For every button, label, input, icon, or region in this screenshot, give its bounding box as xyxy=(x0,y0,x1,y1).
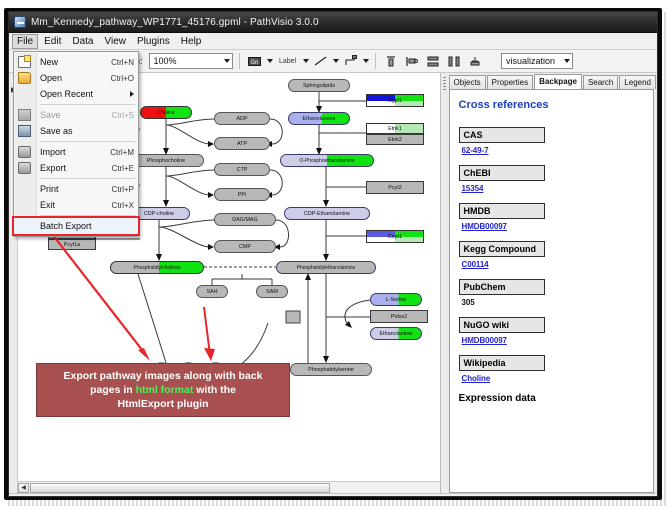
callout-line-2-post: with the xyxy=(193,384,236,396)
node-label-choline: Choline xyxy=(157,110,175,116)
node-label-etnk1: Etnk1 xyxy=(388,126,402,132)
canvas-horizontal-scrollbar[interactable]: ◀ xyxy=(18,481,441,493)
expression-data-title: Expression data xyxy=(459,393,644,404)
node-label-phosphatidylserine: Phosphatidylserine xyxy=(308,367,354,373)
xref-source-nugo: NuGO wiki xyxy=(459,317,545,333)
export-icon xyxy=(18,162,31,174)
callout-line-2-pre: pages in xyxy=(90,384,136,396)
node-ptdss2[interactable]: Ptdss2 xyxy=(370,310,428,323)
node-label-pcyt2: Pcyt2 xyxy=(388,185,401,191)
pathvisio-icon xyxy=(14,16,26,28)
node-dag-mag[interactable]: DAG/MAG xyxy=(214,213,276,226)
xref-row-wikipedia: Wikipedia Choline xyxy=(459,353,644,383)
node-label-pcyt1a: Pcyt1a xyxy=(64,242,80,248)
menu-item-save-as[interactable]: Save as xyxy=(14,123,138,139)
menu-item-exit-accel: Ctrl+X xyxy=(112,201,134,210)
node-cdp-ethanolamine[interactable]: CDP-Ethanolamine xyxy=(284,207,370,220)
node-label-cdp-ethanolamine: CDP-Ethanolamine xyxy=(304,211,350,217)
node-label-dag-mag: DAG/MAG xyxy=(232,217,257,223)
xref-link-cas[interactable]: 62-49-7 xyxy=(462,146,644,155)
annotation-callout: Export pathway images along with back pa… xyxy=(36,363,290,417)
menu-item-new[interactable]: New Ctrl+N xyxy=(14,54,138,70)
annotation-callout-text: Export pathway images along with back pa… xyxy=(64,369,263,411)
xref-row-pubchem: PubChem 305 xyxy=(459,277,644,307)
menu-plugins[interactable]: Plugins xyxy=(132,34,175,49)
node-phosphatidylcholines[interactable]: Phosphatidylcholines xyxy=(110,261,204,274)
tab-objects[interactable]: Objects xyxy=(449,75,486,89)
menu-item-export[interactable]: Export Ctrl+E xyxy=(14,160,138,176)
menu-item-save[interactable]: Save Ctrl+S xyxy=(14,107,138,123)
zoom-combo[interactable]: 100% xyxy=(149,53,233,69)
node-label-ppi: PPi xyxy=(238,192,246,198)
node-phosphatidylserine[interactable]: Phosphatidylserine xyxy=(290,363,372,376)
node-label-sam: SAM xyxy=(266,289,278,295)
xref-link-wikipedia[interactable]: Choline xyxy=(462,374,644,383)
node-label-ethanolamine: Ethanolamine xyxy=(303,116,336,122)
xref-row-kegg: Kegg Compound C00114 xyxy=(459,239,644,269)
node-label-phosphatidylethanolamine: Phosphatidylethanolamine xyxy=(297,265,356,271)
menu-item-import-accel: Ctrl+M xyxy=(110,148,134,157)
node-ppi[interactable]: PPi xyxy=(214,188,270,201)
node-label-sphingolipids: Sphingolipids xyxy=(303,83,335,89)
node-label-cept1: Cept1 xyxy=(388,234,402,240)
save-as-icon xyxy=(18,125,31,137)
xref-source-chebi: ChEBI xyxy=(459,165,545,181)
dropdown-separator-4 xyxy=(40,215,135,216)
stack-tool-icon[interactable] xyxy=(466,52,484,70)
xref-link-nugo[interactable]: HMDB00097 xyxy=(462,336,644,345)
xref-link-chebi[interactable]: 15354 xyxy=(462,184,644,193)
xref-row-cas: CAS 62-49-7 xyxy=(459,125,644,155)
menu-item-batch-export-label: Batch Export xyxy=(40,221,134,231)
node-sphingolipids[interactable]: Sphingolipids xyxy=(288,79,350,92)
interaction-tool-icon[interactable] xyxy=(342,52,360,70)
menu-item-new-accel: Ctrl+N xyxy=(111,58,134,67)
node-label-cmp: CMP xyxy=(239,244,251,250)
label-chevron-icon[interactable] xyxy=(303,59,309,63)
node-cept1[interactable]: Cept1 xyxy=(366,230,424,243)
menu-item-import[interactable]: Import Ctrl+M xyxy=(14,144,138,160)
node-ctp[interactable]: CTP xyxy=(214,163,270,176)
scrollbar-thumb[interactable] xyxy=(30,483,330,493)
pathvisio-window: Mm_Kennedy_pathway_WP1771_45176.gpml - P… xyxy=(8,11,658,497)
dropdown-separator-2 xyxy=(40,141,135,142)
menu-help[interactable]: Help xyxy=(176,34,207,49)
drag-handle-icon[interactable] xyxy=(443,77,446,91)
menu-item-print-label: Print xyxy=(40,184,112,194)
menu-item-save-label: Save xyxy=(40,110,112,120)
label-tool-label: Label xyxy=(279,58,296,65)
distribute-horizontal-tool-icon[interactable] xyxy=(445,52,463,70)
node-atp[interactable]: ATP xyxy=(214,137,270,150)
menu-data[interactable]: Data xyxy=(67,34,98,49)
node-phosphatidylethanolamine[interactable]: Phosphatidylethanolamine xyxy=(276,261,376,274)
window-title: Mm_Kennedy_pathway_WP1771_45176.gpml - P… xyxy=(31,17,319,28)
xref-source-hmdb: HMDB xyxy=(459,203,545,219)
menu-item-open-accel: Ctrl+O xyxy=(111,74,134,83)
menu-view[interactable]: View xyxy=(99,34,131,49)
visualization-value: visualization xyxy=(506,56,555,66)
menu-item-batch-export[interactable]: Batch Export xyxy=(14,218,138,234)
node-label-atp: ATP xyxy=(237,141,247,147)
node-label-sgpl1: Sgpl1 xyxy=(388,98,402,104)
open-folder-icon xyxy=(18,72,31,84)
menu-item-open[interactable]: Open Ctrl+O xyxy=(14,70,138,86)
node-etnk1[interactable]: Etnk1 xyxy=(366,123,424,134)
node-phosphocholine[interactable]: Phosphocholine xyxy=(128,154,204,167)
chevron-down-icon-visualization xyxy=(564,59,570,63)
menu-item-new-label: New xyxy=(40,57,111,67)
node-label-sah: SAH xyxy=(206,289,217,295)
node-adp[interactable]: ADP xyxy=(214,112,270,125)
xref-source-wikipedia: Wikipedia xyxy=(459,355,545,371)
xref-link-hmdb[interactable]: HMDB00097 xyxy=(462,222,644,231)
menu-item-open-label: Open xyxy=(40,73,111,83)
import-icon xyxy=(18,146,31,158)
menu-item-import-label: Import xyxy=(40,147,110,157)
node-label-o-phosphoethanolamine: O-Phosphoethanolamine xyxy=(299,158,354,164)
chevron-down-icon xyxy=(224,59,230,63)
tab-backpage[interactable]: Backpage xyxy=(534,74,582,89)
dropdown-separator-3 xyxy=(40,178,135,179)
menu-item-print[interactable]: Print Ctrl+P xyxy=(14,181,138,197)
interaction-chevron-icon[interactable] xyxy=(363,59,369,63)
cross-references-title: Cross references xyxy=(459,99,644,111)
menu-bar: File Edit Data View Plugins Help xyxy=(9,33,657,50)
zoom-value: 100% xyxy=(154,56,177,66)
xref-row-chebi: ChEBI 15354 xyxy=(459,163,644,193)
menu-item-print-accel: Ctrl+P xyxy=(112,185,134,194)
node-pcyt2[interactable]: Pcyt2 xyxy=(366,181,424,194)
side-panel: Objects Properties Backpage Search Legen… xyxy=(441,73,657,493)
toolbar-separator-2 xyxy=(375,53,376,69)
menu-item-export-label: Export xyxy=(40,163,112,173)
menu-edit[interactable]: Edit xyxy=(39,34,66,49)
node-label-cdp-choline: CDP-choline xyxy=(144,211,174,217)
node-sgpl1[interactable]: Sgpl1 xyxy=(366,94,424,107)
node-l-serine[interactable]: L-Serine xyxy=(370,293,422,306)
menu-item-save-accel: Ctrl+S xyxy=(112,111,134,120)
menu-file[interactable]: File xyxy=(12,34,38,49)
node-label-phosphocholine: Phosphocholine xyxy=(147,158,185,164)
node-sam[interactable]: SAM xyxy=(256,285,288,298)
backpage-content[interactable]: Cross references CAS 62-49-7 ChEBI 15354… xyxy=(449,89,654,493)
gene-product-tool-icon[interactable]: Gn xyxy=(246,52,264,70)
callout-line-1: Export pathway images along with back xyxy=(64,370,263,382)
node-pcyt1a[interactable]: Pcyt1a xyxy=(48,239,96,250)
gene-product-chevron-icon[interactable] xyxy=(267,59,273,63)
scroll-left-arrow-icon[interactable]: ◀ xyxy=(18,483,29,493)
node-cmp[interactable]: CMP xyxy=(214,240,276,253)
node-etnk2[interactable]: Etnk2 xyxy=(366,134,424,145)
callout-highlight: html format xyxy=(136,384,194,396)
xref-row-hmdb: HMDB HMDB00097 xyxy=(459,201,644,231)
node-label-phosphatidylcholines: Phosphatidylcholines xyxy=(134,265,181,271)
file-menu-dropdown[interactable]: New Ctrl+N Open Ctrl+O Open Recent Save … xyxy=(13,51,139,237)
node-label-adp: ADP xyxy=(236,116,247,122)
menu-item-export-accel: Ctrl+E xyxy=(112,164,134,173)
svg-text:Gn: Gn xyxy=(251,60,259,66)
title-bar: Mm_Kennedy_pathway_WP1771_45176.gpml - P… xyxy=(9,12,657,33)
submenu-arrow-icon xyxy=(130,91,134,97)
toolbar-separator xyxy=(239,53,240,69)
node-label-l-serine: L-Serine xyxy=(386,297,406,303)
dropdown-separator-1 xyxy=(40,104,135,105)
menu-item-exit-label: Exit xyxy=(40,200,112,210)
xref-value-pubchem: 305 xyxy=(462,298,644,307)
node-sah[interactable]: SAH xyxy=(196,285,228,298)
screenshot-root: Mm_Kennedy_pathway_WP1771_45176.gpml - P… xyxy=(0,0,670,509)
node-ethanolamine[interactable]: Ethanolamine xyxy=(288,112,350,125)
xref-row-nugo: NuGO wiki HMDB00097 xyxy=(459,315,644,345)
xref-source-pubchem: PubChem xyxy=(459,279,545,295)
line-tool-icon[interactable] xyxy=(312,52,330,70)
menu-item-exit[interactable]: Exit Ctrl+X xyxy=(14,197,138,213)
save-disk-icon xyxy=(18,109,31,121)
callout-line-3: HtmlExport plugin xyxy=(118,398,209,410)
new-document-icon xyxy=(18,56,31,68)
node-label-ptdss2: Ptdss2 xyxy=(391,314,407,320)
tab-legend[interactable]: Legend xyxy=(619,75,656,89)
side-panel-tabs: Objects Properties Backpage Search Legen… xyxy=(449,73,657,89)
node-o-phosphoethanolamine[interactable]: O-Phosphoethanolamine xyxy=(280,154,374,167)
side-panel-rail[interactable] xyxy=(441,73,448,493)
tab-properties[interactable]: Properties xyxy=(487,75,533,89)
menu-item-save-as-label: Save as xyxy=(40,126,134,136)
xref-source-kegg: Kegg Compound xyxy=(459,241,545,257)
align-left-tool-icon[interactable] xyxy=(403,52,421,70)
status-bar: | Gene database: ...m_Derby_20120602.bri… xyxy=(9,493,657,497)
xref-source-cas: CAS xyxy=(459,127,545,143)
distribute-vertical-tool-icon[interactable] xyxy=(424,52,442,70)
align-top-tool-icon[interactable] xyxy=(382,52,400,70)
tab-search[interactable]: Search xyxy=(583,75,618,89)
node-label-ethanolamine-2: Ethanolamine xyxy=(380,331,413,337)
node-ethanolamine-2[interactable]: Ethanolamine xyxy=(370,327,422,340)
line-chevron-icon[interactable] xyxy=(333,59,339,63)
menu-item-open-recent-label: Open Recent xyxy=(40,89,130,99)
node-label-etnk2: Etnk2 xyxy=(388,137,402,143)
node-label-ctp: CTP xyxy=(237,167,248,173)
visualization-combo[interactable]: visualization xyxy=(501,53,573,69)
label-tool-icon[interactable]: Label xyxy=(276,52,300,70)
xref-link-kegg[interactable]: C00114 xyxy=(462,260,644,269)
menu-item-open-recent[interactable]: Open Recent xyxy=(14,86,138,102)
node-choline[interactable]: Choline xyxy=(140,106,192,119)
